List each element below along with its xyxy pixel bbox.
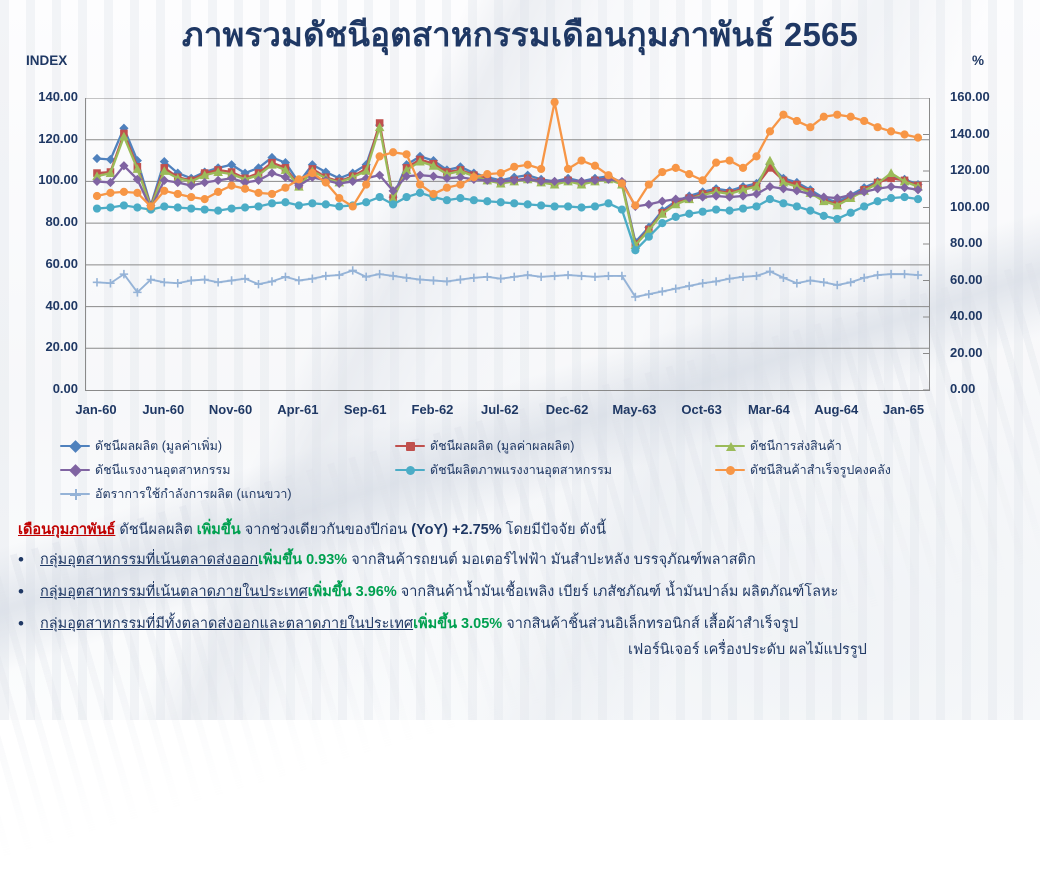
legend-item-3[interactable]: ดัชนีแรงงานอุตสาหกรรม — [60, 460, 230, 480]
data-point — [551, 98, 559, 106]
data-point — [900, 270, 908, 278]
data-point — [187, 193, 195, 201]
data-point — [725, 207, 733, 215]
right-tick-20.00: 20.00 — [950, 345, 983, 360]
data-point — [806, 123, 814, 131]
legend-marker-icon — [726, 466, 735, 475]
data-point — [429, 190, 437, 198]
legend-label: อัตราการใช้กำลังการผลิต (แกนขวา) — [95, 484, 292, 504]
bullet-change-value: เพิ่มขึ้น 3.96% — [308, 584, 397, 600]
data-point — [712, 159, 720, 167]
legend-item-4[interactable]: ดัชนีผลิตภาพแรงงานอุตสาหกรรม — [395, 460, 612, 480]
data-point — [174, 279, 182, 287]
bullet-group-label: กลุ่มอุตสาหกรรมที่มีทั้งตลาดส่งออกและตลา… — [40, 616, 413, 632]
data-point — [349, 266, 357, 274]
data-point — [416, 180, 424, 188]
data-point — [174, 190, 182, 198]
data-point — [886, 182, 895, 191]
data-point — [187, 276, 195, 284]
data-point — [281, 273, 289, 281]
data-point — [793, 279, 801, 287]
data-point — [550, 272, 558, 280]
data-point — [429, 172, 438, 181]
data-point — [241, 185, 249, 193]
note-headline: เดือนกุมภาพันธ์ ดัชนีผลผลิต เพิ่มขึ้น จา… — [18, 520, 606, 541]
data-point — [322, 200, 330, 208]
x-tick-Jan-65: Jan-65 — [883, 402, 924, 417]
data-point — [497, 198, 505, 206]
data-point — [577, 156, 585, 164]
data-point — [820, 278, 828, 286]
data-point — [860, 117, 868, 125]
data-point — [120, 201, 128, 209]
data-point — [699, 176, 707, 184]
data-point — [510, 163, 518, 171]
data-point — [847, 209, 855, 217]
data-point — [389, 200, 397, 208]
note-head-increase: เพิ่มขึ้น — [197, 522, 241, 538]
x-tick-Jun-60: Jun-60 — [142, 402, 184, 417]
data-point — [644, 200, 653, 209]
legend-marker-icon — [406, 466, 415, 475]
data-point — [497, 169, 505, 177]
data-point — [227, 204, 235, 212]
data-point — [443, 196, 451, 204]
data-point — [833, 215, 841, 223]
legend-marker-icon — [71, 490, 80, 499]
note-month: เดือนกุมภาพันธ์ — [18, 522, 115, 538]
data-point — [120, 188, 128, 196]
data-point — [591, 162, 599, 170]
data-point — [214, 176, 223, 185]
legend-label: ดัชนีสินค้าสำเร็จรูปคงคลัง — [750, 460, 891, 480]
data-point — [201, 205, 209, 213]
data-point — [618, 179, 626, 187]
legend-label: ดัชนีผลผลิต (มูลค่าเพิ่ม) — [95, 436, 222, 456]
data-point — [577, 203, 585, 211]
data-point — [645, 233, 653, 241]
series-6 — [93, 266, 922, 301]
data-point — [227, 182, 235, 190]
data-point — [672, 164, 680, 172]
data-point — [295, 175, 303, 183]
x-tick-Mar-64: Mar-64 — [748, 402, 790, 417]
data-point — [174, 203, 182, 211]
data-point — [618, 205, 626, 213]
data-point — [712, 277, 720, 285]
data-point — [267, 168, 276, 177]
data-point — [551, 202, 559, 210]
legend-label: ดัชนีผลิตภาพแรงงานอุตสาหกรรม — [430, 460, 612, 480]
left-tick-0.00: 0.00 — [53, 381, 78, 396]
data-point — [806, 276, 814, 284]
data-point — [376, 193, 384, 201]
data-point — [295, 276, 303, 284]
x-axis-ticks: Jan-60Jun-60Nov-60Apr-61Sep-61Feb-62Jul-… — [0, 402, 1040, 426]
data-point — [376, 152, 384, 160]
data-point — [254, 202, 262, 210]
data-point — [685, 170, 693, 178]
data-point — [914, 195, 922, 203]
right-tick-40.00: 40.00 — [950, 308, 983, 323]
data-point — [335, 271, 343, 279]
data-point — [847, 113, 855, 121]
data-point — [429, 276, 437, 284]
data-point — [779, 111, 787, 119]
data-point — [214, 207, 222, 215]
data-point — [914, 134, 922, 142]
data-point — [92, 154, 101, 163]
data-point — [308, 274, 316, 282]
data-point — [739, 204, 747, 212]
data-point — [537, 201, 545, 209]
right-tick-100.00: 100.00 — [950, 199, 990, 214]
data-point — [739, 164, 747, 172]
legend-item-6[interactable]: อัตราการใช้กำลังการผลิต (แกนขวา) — [60, 484, 292, 504]
data-point — [712, 205, 720, 213]
data-point — [281, 184, 289, 192]
data-point — [510, 199, 518, 207]
data-point — [766, 267, 774, 275]
data-point — [483, 273, 491, 281]
data-point — [658, 219, 666, 227]
data-point — [201, 195, 209, 203]
data-point — [375, 270, 383, 278]
data-point — [322, 178, 330, 186]
legend-item-2[interactable]: ดัชนีการส่งสินค้า — [715, 436, 842, 456]
page-title: ภาพรวมดัชนีอุตสาหกรรมเดือนกุมภาพันธ์ 256… — [0, 8, 1040, 61]
data-point — [443, 277, 451, 285]
data-point — [308, 169, 316, 177]
data-point — [820, 113, 828, 121]
note-bullet-0: •กลุ่มอุตสาหกรรมที่เน้นตลาดส่งออกเพิ่มขึ… — [18, 550, 756, 571]
right-tick-140.00: 140.00 — [950, 126, 990, 141]
chart-canvas — [86, 98, 929, 390]
legend-swatch-plus-icon — [60, 488, 90, 500]
data-point — [591, 202, 599, 210]
data-point — [739, 273, 747, 281]
data-point — [254, 280, 262, 288]
legend-label: ดัชนีผลผลิต (มูลค่าผลผลิต) — [430, 436, 574, 456]
right-tick-120.00: 120.00 — [950, 162, 990, 177]
data-point — [874, 123, 882, 131]
slide-page: ภาพรวมดัชนีอุตสาหกรรมเดือนกุมภาพันธ์ 256… — [0, 0, 1040, 720]
data-point — [537, 273, 545, 281]
note-head-yoy: (YoY) +2.75% — [411, 522, 501, 538]
industrial-index-chart: 0.0020.0040.0060.0080.00100.00120.00140.… — [0, 90, 1040, 405]
data-point — [752, 272, 760, 280]
data-point — [147, 202, 155, 210]
data-point — [658, 168, 666, 176]
data-point — [591, 273, 599, 281]
data-point — [389, 272, 397, 280]
data-point — [752, 152, 760, 160]
data-point — [900, 193, 908, 201]
legend-swatch-diamond-icon — [60, 464, 90, 476]
legend-swatch-diamond-icon — [60, 440, 90, 452]
data-point — [604, 199, 612, 207]
data-point — [349, 202, 357, 210]
data-point — [335, 194, 343, 202]
legend-swatch-triangle-icon — [715, 440, 745, 452]
data-point — [106, 203, 114, 211]
bullet-dot-icon: • — [18, 614, 30, 633]
data-point — [443, 184, 451, 192]
data-point — [106, 189, 114, 197]
data-point — [254, 189, 262, 197]
data-point — [93, 192, 101, 200]
legend-item-0[interactable]: ดัชนีผลผลิต (มูลค่าเพิ่ม) — [60, 436, 222, 456]
note-bullet-1: •กลุ่มอุตสาหกรรมที่เน้นตลาดภายในประเทศเพ… — [18, 582, 838, 603]
note-bullet-2: •กลุ่มอุตสาหกรรมที่มีทั้งตลาดส่งออกและตล… — [18, 614, 798, 635]
legend-marker-icon — [726, 442, 736, 451]
data-point — [752, 202, 760, 210]
data-point — [685, 210, 693, 218]
data-point — [537, 165, 545, 173]
data-point — [887, 194, 895, 202]
data-point — [914, 271, 922, 279]
series-line — [97, 193, 918, 250]
data-point — [725, 274, 733, 282]
data-point — [470, 196, 478, 204]
bullet-dot-icon: • — [18, 550, 30, 569]
data-point — [766, 127, 774, 135]
data-point — [456, 275, 464, 283]
legend-item-5[interactable]: ดัชนีสินค้าสำเร็จรูปคงคลัง — [715, 460, 891, 480]
data-point — [416, 275, 424, 283]
data-point — [699, 208, 707, 216]
x-tick-May-63: May-63 — [612, 402, 656, 417]
x-tick-Dec-62: Dec-62 — [546, 402, 589, 417]
data-point — [765, 156, 775, 165]
data-point — [631, 246, 639, 254]
x-tick-Feb-62: Feb-62 — [412, 402, 454, 417]
data-point — [456, 194, 464, 202]
data-point — [268, 190, 276, 198]
data-point — [268, 199, 276, 207]
data-point — [200, 178, 209, 187]
data-point — [604, 272, 612, 280]
data-point — [604, 171, 612, 179]
data-point — [241, 274, 249, 282]
x-tick-Aug-64: Aug-64 — [814, 402, 858, 417]
data-point — [160, 187, 168, 195]
data-point — [860, 202, 868, 210]
note-head-p4: จากช่วงเดียวกันของปีก่อน — [241, 522, 412, 538]
bullet-change-value: เพิ่มขึ้น 0.93% — [258, 552, 347, 568]
data-point — [524, 200, 532, 208]
data-point — [402, 193, 410, 201]
data-point — [483, 197, 491, 205]
x-tick-Oct-63: Oct-63 — [681, 402, 721, 417]
left-tick-100.00: 100.00 — [38, 172, 78, 187]
data-point — [402, 150, 410, 158]
data-point — [564, 165, 572, 173]
data-point — [672, 285, 680, 293]
data-point — [133, 189, 141, 197]
data-point — [470, 173, 478, 181]
bullet-dot-icon: • — [18, 582, 30, 601]
data-point — [322, 272, 330, 280]
data-point — [416, 189, 424, 197]
data-point — [362, 198, 370, 206]
data-point — [886, 168, 896, 177]
bullet-group-label: กลุ่มอุตสาหกรรมที่เน้นตลาดภายในประเทศ — [40, 584, 308, 600]
data-point — [93, 278, 101, 286]
data-point — [645, 290, 653, 298]
right-tick-60.00: 60.00 — [950, 272, 983, 287]
note-head-p2: ดัชนีผลผลิต — [115, 522, 196, 538]
left-axis-ticks: 0.0020.0040.0060.0080.00100.00120.00140.… — [0, 90, 78, 390]
data-point — [524, 161, 532, 169]
data-point — [577, 272, 585, 280]
data-point — [564, 202, 572, 210]
left-tick-20.00: 20.00 — [45, 339, 78, 354]
data-point — [658, 197, 667, 206]
data-point — [874, 197, 882, 205]
right-axis-ticks: 0.0020.0040.0060.0080.00100.00120.00140.… — [950, 90, 1036, 390]
x-tick-Jul-62: Jul-62 — [481, 402, 519, 417]
legend-marker-icon — [69, 440, 82, 453]
left-tick-120.00: 120.00 — [38, 131, 78, 146]
left-tick-80.00: 80.00 — [45, 214, 78, 229]
data-point — [779, 274, 787, 282]
data-point — [645, 180, 653, 188]
data-point — [187, 204, 195, 212]
bullet-text: กลุ่มอุตสาหกรรมที่เน้นตลาดภายในประเทศเพิ… — [40, 582, 838, 603]
bullet-text: กลุ่มอุตสาหกรรมที่เน้นตลาดส่งออกเพิ่มขึ้… — [40, 550, 756, 571]
data-point — [470, 274, 478, 282]
data-point — [227, 276, 235, 284]
data-point — [793, 117, 801, 125]
bullet-detail: จากสินค้ารถยนต์ มอเตอร์ไฟฟ้า มันสำปะหลัง… — [347, 552, 756, 568]
data-point — [214, 278, 222, 286]
data-point — [456, 180, 464, 188]
data-point — [658, 287, 666, 295]
data-point — [820, 212, 828, 220]
legend-item-1[interactable]: ดัชนีผลผลิต (มูลค่าผลผลิต) — [395, 436, 574, 456]
series-2 — [92, 122, 923, 249]
data-point — [268, 277, 276, 285]
data-point — [93, 204, 101, 212]
x-tick-Nov-60: Nov-60 — [209, 402, 252, 417]
bullet-text: กลุ่มอุตสาหกรรมที่มีทั้งตลาดส่งออกและตลา… — [40, 614, 798, 635]
data-point — [847, 278, 855, 286]
data-point — [631, 201, 639, 209]
data-point — [389, 148, 397, 156]
data-point — [765, 182, 774, 191]
data-point — [214, 188, 222, 196]
right-tick-80.00: 80.00 — [950, 235, 983, 250]
bullet-detail: จากสินค้าชิ้นส่วนอิเล็กทรอนิกส์ เสื้อผ้า… — [502, 616, 798, 632]
data-point — [308, 199, 316, 207]
data-point — [510, 273, 518, 281]
legend-label: ดัชนีแรงงานอุตสาหกรรม — [95, 460, 230, 480]
right-axis-caption: % — [972, 53, 984, 68]
data-point — [873, 271, 881, 279]
data-point — [200, 275, 208, 283]
data-point — [900, 130, 908, 138]
note-tail: เฟอร์นิเจอร์ เครื่องประดับ ผลไม้แปรรูป — [628, 640, 867, 661]
left-tick-60.00: 60.00 — [45, 256, 78, 271]
left-tick-140.00: 140.00 — [38, 89, 78, 104]
data-point — [564, 271, 572, 279]
data-point — [160, 202, 168, 210]
chart-legend: ดัชนีผลผลิต (มูลค่าเพิ่ม)ดัชนีผลผลิต (มู… — [0, 436, 1040, 508]
data-point — [698, 279, 706, 287]
data-point — [887, 270, 895, 278]
right-tick-0.00: 0.00 — [950, 381, 975, 396]
bullet-change-value: เพิ่มขึ้น 3.05% — [413, 616, 502, 632]
data-point — [672, 213, 680, 221]
data-point — [793, 202, 801, 210]
data-point — [685, 282, 693, 290]
bullet-detail: จากสินค้าน้ำมันเชื้อเพลิง เบียร์ เภสัชภั… — [397, 584, 839, 600]
legend-swatch-circle-icon — [395, 464, 425, 476]
legend-marker-icon — [406, 442, 415, 451]
left-tick-40.00: 40.00 — [45, 298, 78, 313]
data-point — [523, 271, 531, 279]
data-point — [887, 127, 895, 135]
legend-swatch-square-icon — [395, 440, 425, 452]
right-tick-160.00: 160.00 — [950, 89, 990, 104]
series-4 — [93, 189, 922, 255]
data-point — [497, 274, 505, 282]
data-point — [160, 278, 168, 286]
data-point — [860, 274, 868, 282]
x-tick-Apr-61: Apr-61 — [277, 402, 318, 417]
data-point — [402, 274, 410, 282]
data-point — [281, 198, 289, 206]
left-axis-caption: INDEX — [26, 53, 67, 68]
data-point — [133, 203, 141, 211]
x-tick-Sep-61: Sep-61 — [344, 402, 387, 417]
note-head-p6: โดยมีปัจจัย ดังนี้ — [502, 522, 606, 538]
data-point — [806, 207, 814, 215]
data-point — [725, 156, 733, 164]
legend-label: ดัชนีการส่งสินค้า — [750, 436, 842, 456]
plot-area — [85, 98, 930, 391]
legend-swatch-circle-icon — [715, 464, 745, 476]
data-point — [362, 180, 370, 188]
data-point — [833, 281, 841, 289]
data-point — [752, 189, 761, 198]
bullet-group-label: กลุ่มอุตสาหกรรมที่เน้นตลาดส่งออก — [40, 552, 258, 568]
data-point — [766, 195, 774, 203]
data-point — [241, 203, 249, 211]
data-point — [833, 111, 841, 119]
data-point — [295, 201, 303, 209]
data-point — [483, 170, 491, 178]
data-point — [362, 273, 370, 281]
x-tick-Jan-60: Jan-60 — [75, 402, 116, 417]
legend-marker-icon — [69, 464, 82, 477]
data-point — [335, 202, 343, 210]
data-point — [779, 199, 787, 207]
